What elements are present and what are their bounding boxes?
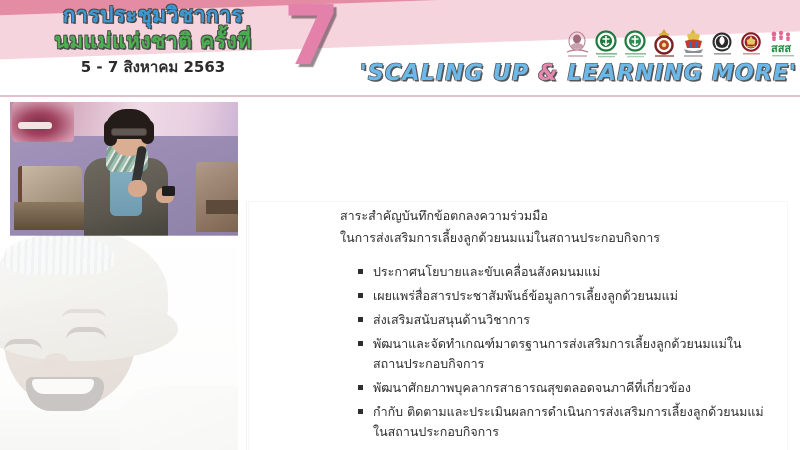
presentation-clicker [162, 186, 175, 196]
conference-title-line1: การประชุมวิชาการ [18, 2, 288, 28]
bullet-square-icon [358, 385, 363, 390]
svg-text:สสส: สสส [771, 42, 791, 55]
partner-logos-strip: สสส [565, 27, 797, 59]
lead-line-2: ในการส่งเสริมการเลี้ยงลูกด้วยนมแม่ในสถาน… [340, 227, 770, 249]
conference-tagline: 'SCALING UP & LEARNING MORE' [360, 60, 797, 88]
logo-thaihealth-sss: สสส [768, 29, 798, 59]
logo-royal-crest-red [739, 29, 764, 59]
list-item-label: ส่งเสริมสนับสนุนด้านวิชาการ [373, 312, 530, 327]
tagline-suffix: LEARNING MORE' [559, 61, 798, 86]
edition-number: 7 [283, 0, 340, 78]
bullet-square-icon [358, 409, 363, 414]
list-item: ประกาศนโยบายและขับเคลื่อนสังคมนมแม่ [358, 262, 770, 282]
list-item: พัฒนาและจัดทำเกณฑ์มาตรฐานการส่งเสริมการเ… [358, 334, 770, 374]
tagline-prefix: 'SCALING UP [360, 61, 538, 86]
list-item: เผยแพร่สื่อสารประชาสัมพันธ์ข้อมูลการเลี้… [358, 286, 770, 306]
list-item: กำกับ ติดตามและประเมินผลการดำเนินการส่งเ… [358, 402, 770, 442]
slide-text-content: สาระสำคัญบันทึกข้อตกลงความร่วมมือ ในการส… [340, 205, 770, 446]
bullet-square-icon [358, 269, 363, 274]
logo-royal-thai-emblem [681, 29, 706, 59]
list-item-label: พัฒนาศักยภาพบุคลากรสาธารณสุขตลอดจนภาคีที… [373, 380, 691, 395]
logo-department-of-health [623, 29, 648, 59]
bullet-square-icon [358, 341, 363, 346]
list-item-label: พัฒนาและจัดทำเกณฑ์มาตรฐานการส่งเสริมการเ… [373, 336, 742, 371]
bullet-list: ประกาศนโยบายและขับเคลื่อนสังคมนมแม่ เผยแ… [358, 262, 770, 442]
list-item-label: กำกับ ติดตามและประเมินผลการดำเนินการส่งเ… [373, 404, 764, 439]
bullet-square-icon [358, 317, 363, 322]
logo-royal-college [652, 29, 677, 59]
slide-header-banner: การประชุมวิชาการ นมแม่แห่งชาติ ครั้งที่ … [0, 0, 800, 97]
conference-title-block: การประชุมวิชาการ นมแม่แห่งชาติ ครั้งที่ … [18, 2, 288, 78]
column-divider [246, 201, 247, 450]
logo-ministry-of-public-health [594, 29, 619, 59]
logo-thai-breastfeeding-foundation [565, 29, 590, 59]
tagline-ampersand: & [538, 61, 558, 86]
lead-paragraph: สาระสำคัญบันทึกข้อตกลงความร่วมมือ ในการส… [340, 205, 770, 249]
lead-line-1: สาระสำคัญบันทึกข้อตกลงความร่วมมือ [340, 205, 770, 227]
presentation-slide: การประชุมวิชาการ นมแม่แห่งชาติ ครั้งที่ … [0, 0, 800, 450]
list-item-label: เผยแพร่สื่อสารประชาสัมพันธ์ข้อมูลการเลี้… [373, 288, 678, 303]
slide-body: สาระสำคัญบันทึกข้อตกลงความร่วมมือ ในการส… [0, 97, 800, 450]
list-item: ส่งเสริมสนับสนุนด้านวิชาการ [358, 310, 770, 330]
smiling-child-photo [0, 235, 238, 450]
speaker-on-stage-photo [10, 102, 238, 236]
logo-unicef [710, 29, 735, 59]
list-item-label: ประกาศนโยบายและขับเคลื่อนสังคมนมแม่ [373, 264, 600, 279]
armchair-right [196, 162, 238, 232]
list-item: พัฒนาศักยภาพบุคลากรสาธารณสุขตลอดจนภาคีที… [358, 378, 770, 398]
conference-title-line2: นมแม่แห่งชาติ ครั้งที่ [18, 28, 288, 55]
bullet-square-icon [358, 293, 363, 298]
conference-date: 5 - 7 สิงหาคม 2563 [18, 56, 288, 78]
speaker-glasses [111, 128, 147, 136]
